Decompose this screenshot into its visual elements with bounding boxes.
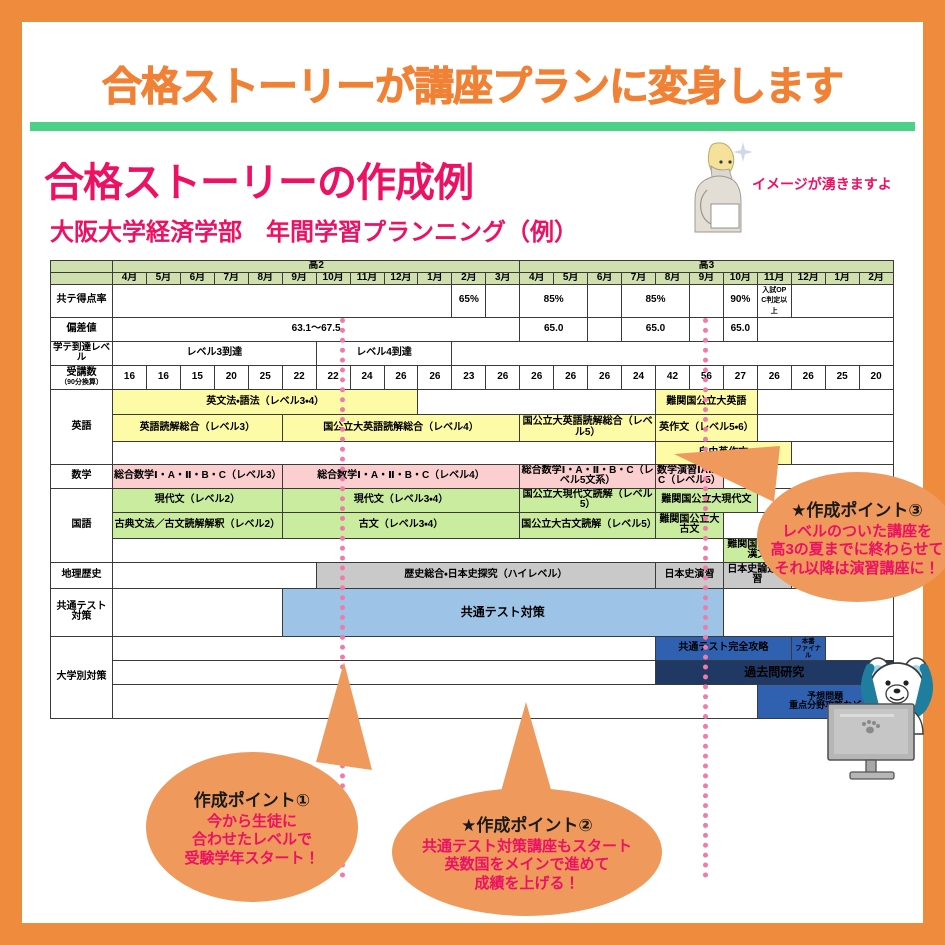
row-label-japanese: 国語 <box>51 488 113 562</box>
jukousu-cell: 26 <box>418 365 452 389</box>
kyotsu-note-nov: 入試OPC判定以上 <box>757 284 791 317</box>
hensachi-apr-g3: 65.0 <box>520 317 588 341</box>
annotation-bubble-point-3[interactable]: ★作成ポイント③ レベルのついた講座を 高3の夏までに終わらせて それ以降は演習… <box>757 472 945 602</box>
jukousu-cell: 26 <box>588 365 622 389</box>
course-math-l5: 総合数学Ⅰ・A・Ⅱ・B・C（レベル5文系） <box>520 464 656 488</box>
course-english-composition: 英作文（レベル5・6） <box>656 414 758 441</box>
jukousu-cell: 56 <box>689 365 723 389</box>
month-header: 7月 <box>622 272 656 284</box>
course-japanese-gendaibun-l34: 現代文（レベル3・4） <box>282 488 520 512</box>
bear-mascot-icon <box>812 630 945 780</box>
kyotsu-empty-g2 <box>113 284 452 317</box>
row-label-kyotsu-score: 共テ得点率 <box>51 284 113 317</box>
jukousu-cell: 25 <box>248 365 282 389</box>
row-label-math: 数学 <box>51 464 113 488</box>
bubble-3-line-3: それ以降は演習講座に！ <box>774 560 939 578</box>
course-english-reading-l4: 国公立大英語読解総合（レベル4） <box>282 414 520 441</box>
hensachi-jul-g3: 65.0 <box>622 317 690 341</box>
green-divider <box>30 122 915 131</box>
corner-cell <box>51 261 113 273</box>
table-row-common-test: 共通テスト対策 共通テスト対策 <box>51 588 894 636</box>
page-subtitle: 大阪大学経済学部 年間学習プランニング（例） <box>50 212 578 247</box>
course-english-reading-l5: 国公立大英語読解総合（レベル5） <box>520 414 656 441</box>
hensachi-empty-jun <box>588 317 622 341</box>
bubble-2-line-1: 共通テスト対策講座もスタート <box>422 838 632 856</box>
month-header: 2月 <box>452 272 486 284</box>
jukousu-cell: 26 <box>384 365 418 389</box>
month-header: 6月 <box>180 272 214 284</box>
jukousu-cell: 42 <box>656 365 690 389</box>
jukousu-cell: 26 <box>520 365 554 389</box>
table-row-english-2: 英語読解総合（レベル3） 国公立大英語読解総合（レベル4） 国公立大英語読解総合… <box>51 414 894 441</box>
table-row-univ-3: 予想問題重点分野攻略など <box>51 684 894 718</box>
month-header: 10月 <box>316 272 350 284</box>
kyotsu-score-jul-g3: 85% <box>622 284 690 317</box>
table-row-hensachi: 偏差値 63.1～67.5 65.0 65.0 65.0 <box>51 317 894 341</box>
table-row-gakute-level: 学テ到達レベル レベル3到達 レベル4到達 <box>51 341 894 365</box>
page-title: 合格ストーリーの作成例 <box>44 150 473 208</box>
month-header: 12月 <box>791 272 825 284</box>
student-illustration-icon <box>677 138 757 238</box>
side-note-text: イメージが湧きますよ <box>752 174 892 194</box>
bubble-2-title: ★作成ポイント② <box>461 811 593 836</box>
jukousu-cell: 20 <box>859 365 893 389</box>
month-header: 1月 <box>825 272 859 284</box>
poster-page: 合格ストーリーが講座プランに変身します 合格ストーリーの作成例 大阪大学経済学部… <box>22 22 923 923</box>
course-history-enshuu: 日本史演習 <box>656 562 724 588</box>
univ-r2-gap <box>113 660 656 684</box>
course-japanese-gendaibun-l5: 国公立大現代文読解（レベル5） <box>520 488 656 512</box>
bubble-1-line-2: 合わせたレベルで <box>192 831 312 849</box>
month-header: 3月 <box>486 272 520 284</box>
row-label-jukousu-sub: （90分換算） <box>52 379 111 387</box>
univ-r3-gap <box>113 684 758 718</box>
month-header: 10月 <box>723 272 757 284</box>
course-math-l3: 総合数学Ⅰ・A・Ⅱ・B・C（レベル3） <box>113 464 283 488</box>
row-label-english: 英語 <box>51 389 113 464</box>
jukousu-cell: 26 <box>791 365 825 389</box>
course-math-l4: 総合数学Ⅰ・A・Ⅱ・B・C（レベル4） <box>282 464 520 488</box>
bubble-3-line-2: 高3の夏までに終わらせて <box>770 541 943 559</box>
annotation-bubble-point-2[interactable]: ★作成ポイント② 共通テスト対策講座もスタート 英数国をメインで進めて 成績を上… <box>392 788 662 916</box>
banner-title: 合格ストーリーが講座プランに変身します <box>22 54 923 112</box>
annotation-bubble-point-1[interactable]: 作成ポイント① 今から生徒に 合わせたレベルで 受験学年スタート！ <box>146 752 358 902</box>
kyotsu-empty-sep-g3 <box>689 284 723 317</box>
month-header: 4月 <box>113 272 147 284</box>
month-header: 9月 <box>282 272 316 284</box>
geo-history-gap <box>113 562 317 588</box>
kyotsu-empty-jun-g3 <box>588 284 622 317</box>
course-english-reading-l3: 英語読解総合（レベル3） <box>113 414 283 441</box>
month-corner-cell <box>51 272 113 284</box>
course-japanese-nankan-kobun: 難関国公立大古文 <box>656 512 724 538</box>
month-header: 1月 <box>418 272 452 284</box>
row-label-jukousu: 受講数 （90分換算） <box>51 365 113 389</box>
gakute-empty-tail <box>452 341 893 365</box>
english-r3-tail <box>791 441 893 464</box>
table-row-english-1: 英語 英文法・語法（レベル3・4） 難関国公立大英語 <box>51 389 894 414</box>
jukousu-cell: 16 <box>113 365 147 389</box>
bubble-1-line-3: 受験学年スタート！ <box>184 850 319 868</box>
course-common-test: 共通テスト対策 <box>282 588 723 636</box>
japanese-r3-gap <box>113 538 724 562</box>
gakute-level-3: レベル3到達 <box>113 341 317 365</box>
grade-group-koko3: 高3 <box>520 261 893 273</box>
common-test-gap <box>113 588 283 636</box>
table-row-months: 4月 5月 6月 7月 8月 9月 10月 11月 12月 1月 2月 3月 4… <box>51 272 894 284</box>
kyotsu-empty-tail <box>791 284 893 317</box>
bubble-1-title: 作成ポイント① <box>194 786 310 811</box>
month-header: 11月 <box>350 272 384 284</box>
bubble-1-line-1: 今から生徒に <box>207 813 297 831</box>
jukousu-cell: 26 <box>757 365 791 389</box>
month-header: 5月 <box>146 272 180 284</box>
english-r2-tail <box>757 414 893 441</box>
row-label-univ-specific: 大学別対策 <box>51 636 113 718</box>
table-row-kyotsu-score: 共テ得点率 65% 85% 85% 90% 入試OPC判定以上 <box>51 284 894 317</box>
month-header: 9月 <box>689 272 723 284</box>
row-label-geo-history: 地理歴史 <box>51 562 113 588</box>
jukousu-cell: 24 <box>622 365 656 389</box>
english-r1-gap <box>418 389 656 414</box>
month-header: 8月 <box>248 272 282 284</box>
course-japanese-kobun-l34: 古文（レベル3・4） <box>282 512 520 538</box>
hensachi-empty-tail <box>757 317 893 341</box>
english-r1-tail <box>757 389 893 414</box>
bubble-3-line-1: レベルのついた講座を <box>782 523 932 541</box>
course-kyotsu-complete: 共通テスト完全攻略 <box>656 636 792 660</box>
bubble-3-title: ★作成ポイント③ <box>791 496 923 521</box>
english-r3-gap <box>113 441 656 464</box>
month-header: 2月 <box>859 272 893 284</box>
jukousu-cell: 20 <box>214 365 248 389</box>
row-label-gakute-level: 学テ到達レベル <box>51 341 113 365</box>
month-header: 5月 <box>554 272 588 284</box>
month-header: 8月 <box>656 272 690 284</box>
grade-group-koko2: 高2 <box>113 261 520 273</box>
jukousu-cell: 16 <box>146 365 180 389</box>
month-header: 7月 <box>214 272 248 284</box>
bubble-tail-3 <box>674 446 784 506</box>
jukousu-cell: 26 <box>486 365 520 389</box>
jukousu-cell: 15 <box>180 365 214 389</box>
row-label-hensachi: 偏差値 <box>51 317 113 341</box>
course-japanese-koten-l2: 古典文法／古文読解解釈（レベル2） <box>113 512 283 538</box>
jukousu-cell: 23 <box>452 365 486 389</box>
bubble-tail-1 <box>314 662 374 772</box>
table-row-univ-2: 過去問研究 <box>51 660 894 684</box>
kyotsu-empty-mar-g2 <box>486 284 520 317</box>
row-label-jukousu-main: 受講数 <box>67 367 97 378</box>
jukousu-cell: 26 <box>554 365 588 389</box>
kyotsu-score-oct-g3: 90% <box>723 284 757 317</box>
kyotsu-score-apr-g3: 85% <box>520 284 588 317</box>
row-label-common-test: 共通テスト対策 <box>51 588 113 636</box>
bubble-2-line-3: 成績を上げる！ <box>474 875 579 893</box>
jukousu-cell: 22 <box>282 365 316 389</box>
course-history-hilevel: 歴史総合・日本史探究（ハイレベル） <box>316 562 655 588</box>
jukousu-cell: 24 <box>350 365 384 389</box>
jukousu-cell: 22 <box>316 365 350 389</box>
month-header: 12月 <box>384 272 418 284</box>
bubble-2-line-2: 英数国をメインで進めて <box>444 856 609 874</box>
hensachi-oct-g3: 65.0 <box>723 317 757 341</box>
univ-r1-gap <box>113 636 656 660</box>
course-english-grammar: 英文法・語法（レベル3・4） <box>113 389 418 414</box>
table-row-geo-history: 地理歴史 歴史総合・日本史探究（ハイレベル） 日本史演習 日本史論述演習 <box>51 562 894 588</box>
table-row-univ-1: 大学別対策 共通テスト完全攻略 本番ファイナル <box>51 636 894 660</box>
course-japanese-gendaibun-l2: 現代文（レベル2） <box>113 488 283 512</box>
table-row-grade-group: 高2 高3 <box>51 261 894 273</box>
hensachi-empty-sep <box>689 317 723 341</box>
table-row-jukousu: 受講数 （90分換算） 16 16 15 20 25 22 22 24 26 2… <box>51 365 894 389</box>
month-header: 4月 <box>520 272 554 284</box>
gakute-level-4: レベル4到達 <box>316 341 452 365</box>
jukousu-cell: 27 <box>723 365 757 389</box>
course-english-nankan: 難関国公立大英語 <box>656 389 758 414</box>
hensachi-range-g2: 63.1～67.5 <box>113 317 520 341</box>
month-header: 11月 <box>757 272 791 284</box>
kyotsu-score-feb-g2: 65% <box>452 284 486 317</box>
month-header: 6月 <box>588 272 622 284</box>
jukousu-cell: 25 <box>825 365 859 389</box>
course-japanese-kobun-l5: 国公立大古文読解（レベル5） <box>520 512 656 538</box>
